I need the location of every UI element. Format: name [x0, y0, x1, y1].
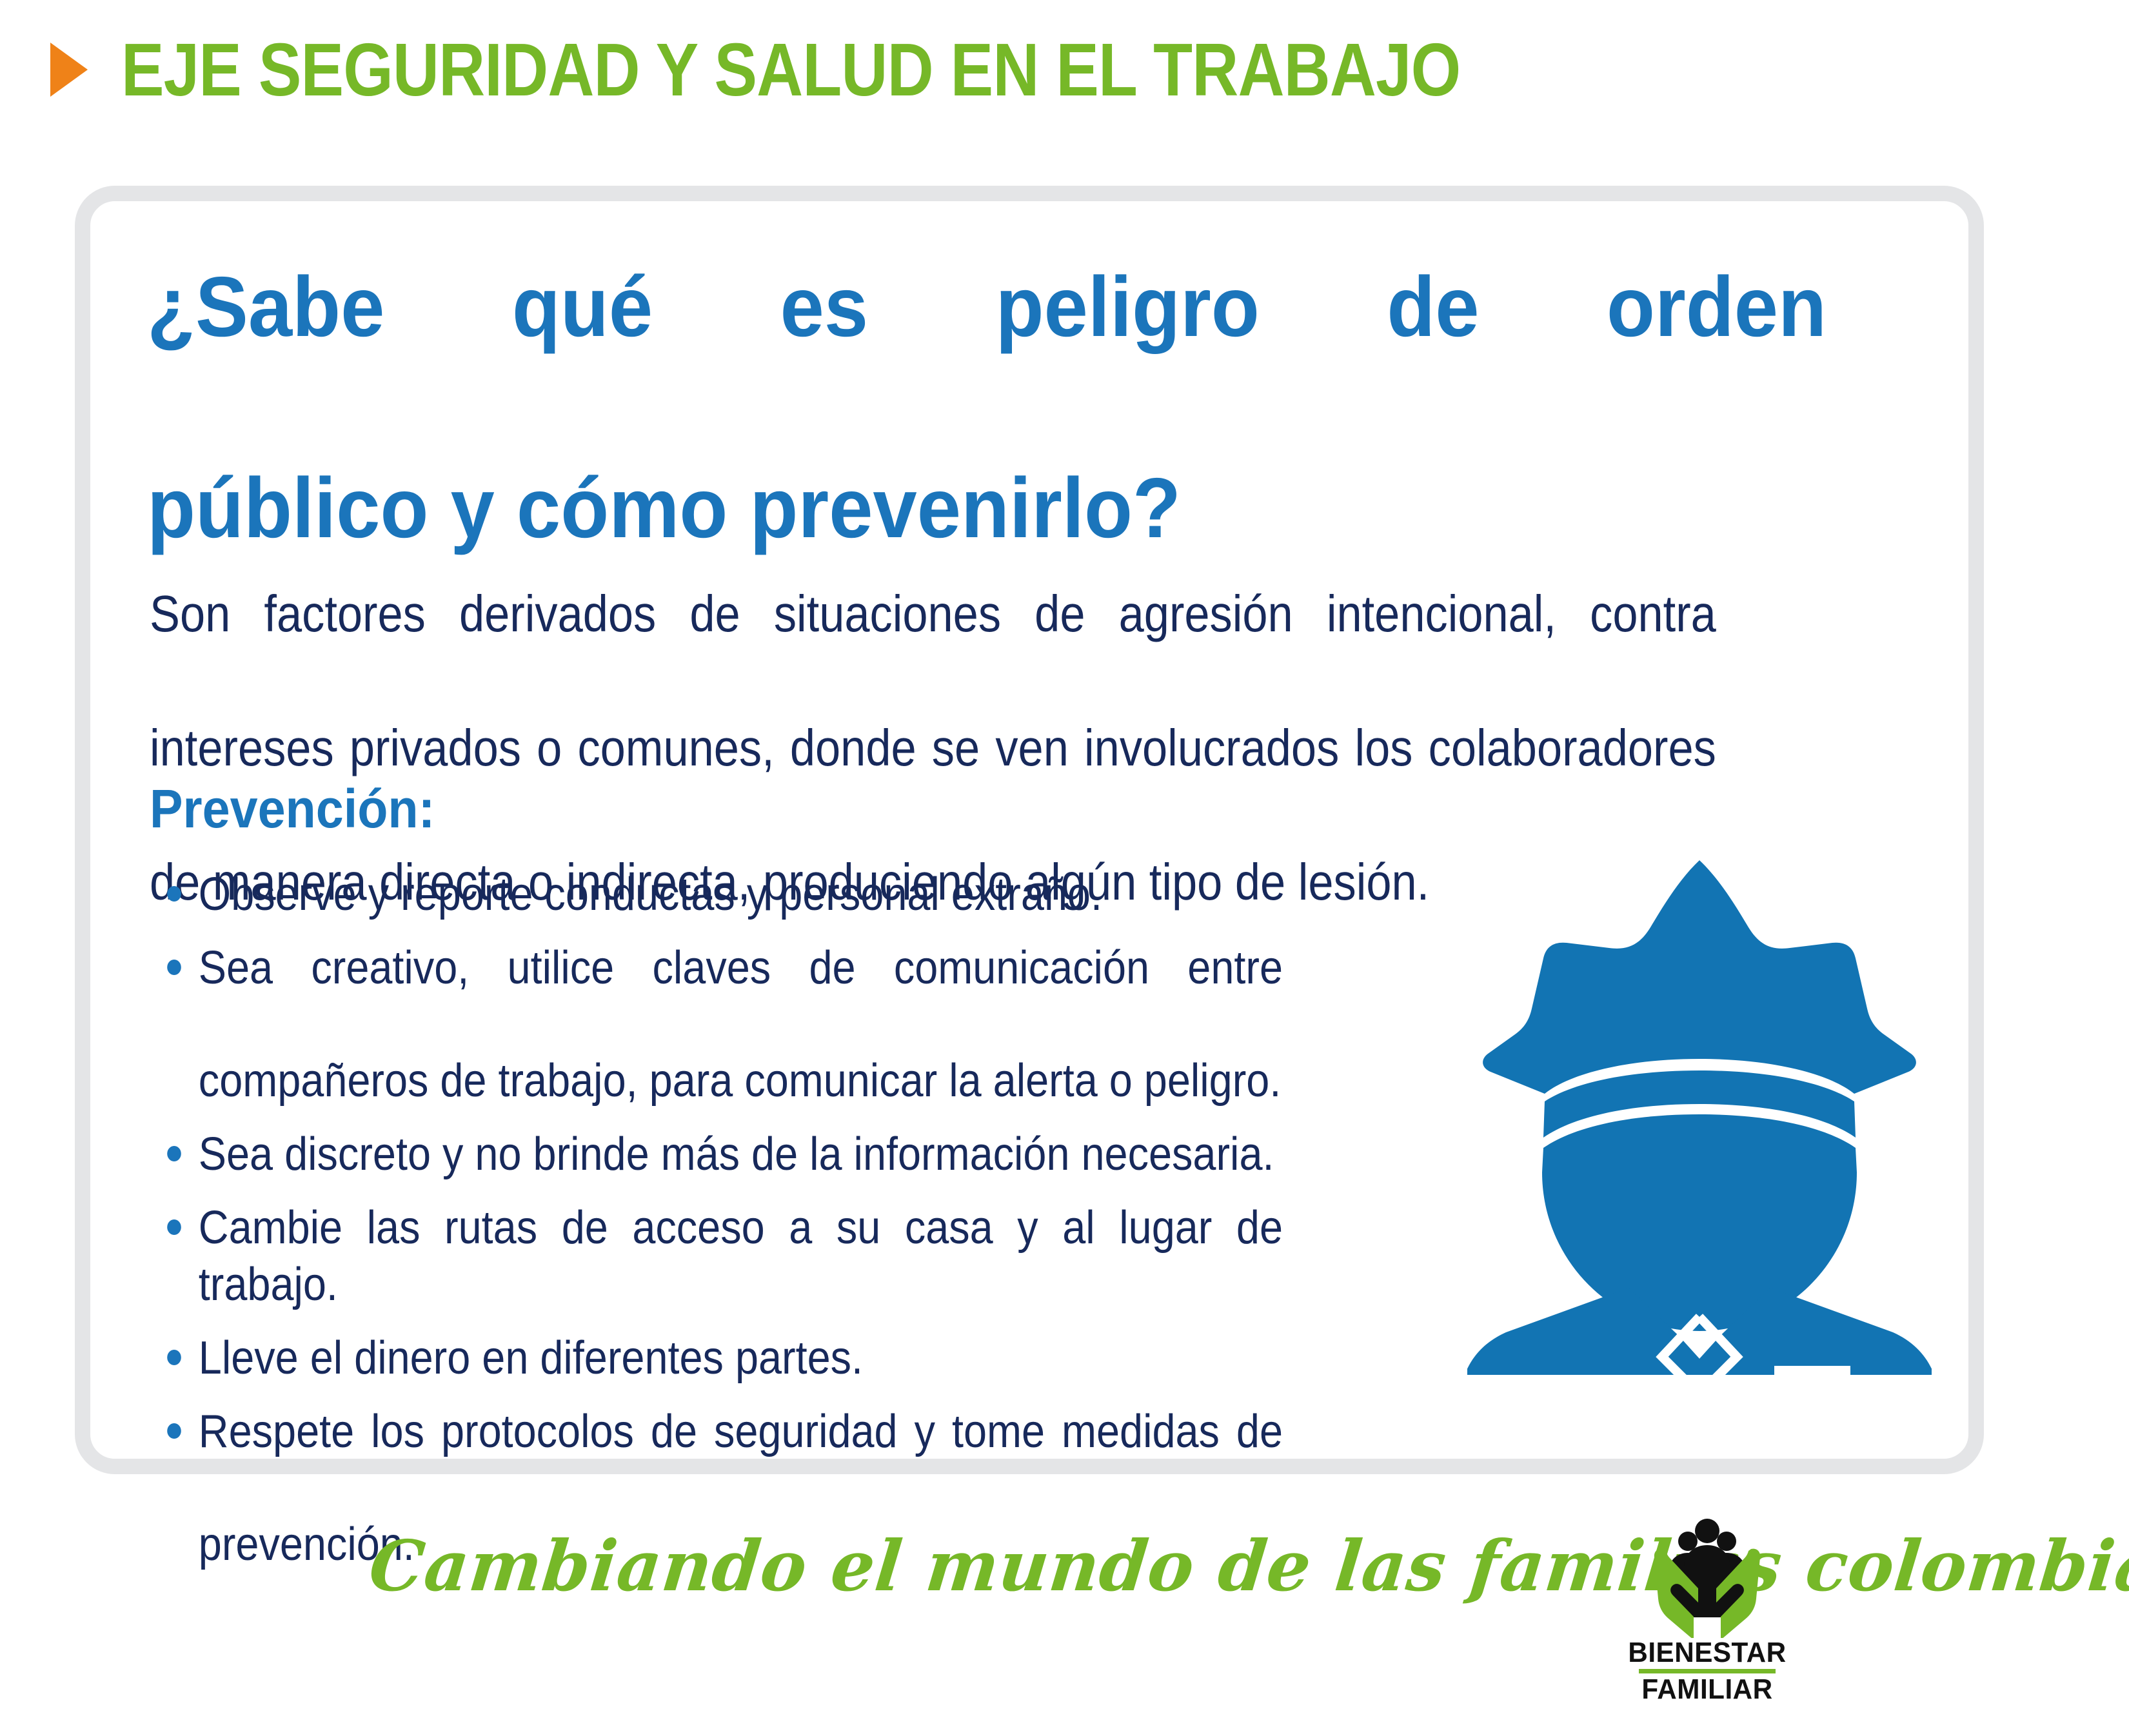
question-heading: ¿Sabe qué es peligro de orden público y … — [147, 257, 1827, 558]
triangle-right-icon — [50, 43, 88, 97]
question-line-2: público y cómo prevenirlo? — [147, 458, 1827, 558]
page-footer: Cambiando el mundo de las familias colom… — [0, 1503, 2129, 1736]
card-inner: ¿Sabe qué es peligro de orden público y … — [90, 201, 1968, 1459]
logo-word-bienestar: BIENESTAR — [1611, 1638, 1803, 1668]
list-item-line-1: Sea creativo, utilice claves de comunica… — [199, 940, 1283, 1054]
footer-tagline: Cambiando el mundo de las familias colom… — [366, 1526, 2129, 1607]
logo-divider — [1639, 1669, 1776, 1673]
list-item-line-2: compañeros de trabajo, para comunicar la… — [199, 1053, 1283, 1110]
list-item: Lleve el dinero en diferentes partes. — [163, 1330, 1283, 1387]
question-line-1: ¿Sabe qué es peligro de orden — [147, 257, 1827, 458]
page-title: EJE SEGURIDAD Y SALUD EN EL TRABAJO — [121, 32, 1460, 107]
list-item-line-1: Sea discreto y no brinde más de la infor… — [199, 1127, 1283, 1183]
list-item: Sea creativo, utilice claves de comunica… — [163, 940, 1283, 1110]
prevention-list: Observe y reporte conductas y personal e… — [163, 867, 1407, 1590]
hands-holding-family-icon — [1627, 1509, 1788, 1638]
police-officer-icon — [1467, 846, 1932, 1375]
list-item-line-1: Observe y reporte conductas y personal e… — [199, 867, 1283, 923]
list-item-line-1: Cambie las rutas de acceso a su casa y a… — [199, 1200, 1283, 1314]
list-item: Sea discreto y no brinde más de la infor… — [163, 1127, 1283, 1183]
list-item: Cambie las rutas de acceso a su casa y a… — [163, 1200, 1283, 1314]
logo-word-familiar: FAMILIAR — [1611, 1675, 1803, 1704]
content-card: ¿Sabe qué es peligro de orden público y … — [75, 186, 1984, 1474]
list-item: Observe y reporte conductas y personal e… — [163, 867, 1283, 923]
bienestar-familiar-logo: BIENESTAR FAMILIAR — [1607, 1509, 1807, 1702]
list-item-line-1: Respete los protocolos de seguridad y to… — [199, 1404, 1283, 1517]
lead-line-1: Son factores derivados de situaciones de… — [150, 580, 1716, 715]
list-item-line-1: Lleve el dinero en diferentes partes. — [199, 1330, 1283, 1387]
page-header: EJE SEGURIDAD Y SALUD EN EL TRABAJO — [0, 25, 2129, 115]
prevention-label: Prevención: — [150, 782, 435, 836]
